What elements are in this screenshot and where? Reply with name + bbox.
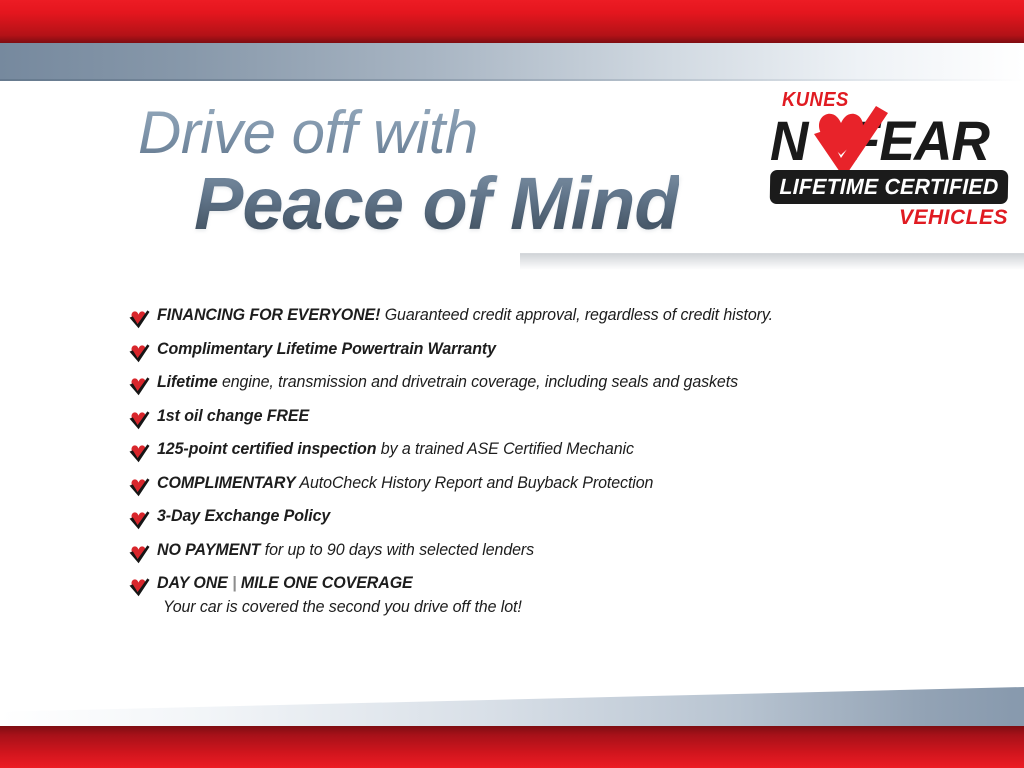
list-item-label: DAY ONE | MILE ONE COVERAGE: [157, 574, 522, 593]
list-item: NO PAYMENT for up to 90 days with select…: [128, 541, 988, 564]
heart-check-icon: [128, 309, 150, 329]
heart-check-icon: [128, 544, 150, 564]
list-item-bold: COMPLIMENTARY: [157, 474, 296, 492]
list-item-bold: 3-Day Exchange Policy: [157, 507, 330, 525]
list-item-bold: Complimentary Lifetime Powertrain Warran…: [157, 340, 496, 358]
list-item: 125-point certified inspection by a trai…: [128, 440, 988, 463]
heart-check-icon: [128, 376, 150, 396]
list-item-bold: 1st oil change FREE: [157, 407, 309, 425]
list-item: 1st oil change FREE: [128, 407, 988, 430]
page-title: Drive off with Peace of Mind: [138, 103, 679, 241]
logo-letter-n: N: [770, 109, 807, 172]
heart-check-icon: [128, 510, 150, 530]
list-item: 3-Day Exchange Policy: [128, 507, 988, 530]
list-item: DAY ONE | MILE ONE COVERAGE Your car is …: [128, 574, 988, 617]
list-item-bold: NO PAYMENT: [157, 541, 260, 559]
list-item: FINANCING FOR EVERYONE! Guaranteed credi…: [128, 306, 988, 329]
heart-check-icon: [128, 443, 150, 463]
heart-check-icon: [128, 410, 150, 430]
list-item-block: DAY ONE | MILE ONE COVERAGE Your car is …: [157, 574, 533, 617]
top-red-band: [0, 0, 1024, 43]
list-item-bold: 125-point certified inspection: [157, 440, 376, 458]
kunes-no-fear-logo: KUNES NOFEAR LIFETIME CERTIFIED VEHICLES: [764, 86, 1014, 231]
feature-list: FINANCING FOR EVERYONE! Guaranteed credi…: [128, 306, 988, 628]
bottom-gray-gradient-band: [0, 687, 1024, 727]
list-item-bold-b-text: MILE ONE COVERAGE: [241, 574, 413, 592]
list-item-rest: AutoCheck History Report and Buyback Pro…: [296, 474, 654, 492]
heart-check-icon: [128, 577, 150, 597]
list-item-label: NO PAYMENT for up to 90 days with select…: [157, 541, 534, 560]
headline-line-1: Drive off with: [138, 103, 679, 163]
header: Drive off with Peace of Mind KUNES NOFEA…: [0, 81, 1024, 281]
list-item-rest: engine, transmission and drivetrain cove…: [218, 373, 738, 391]
list-item: Complimentary Lifetime Powertrain Warran…: [128, 340, 988, 363]
logo-vehicles-text: VEHICLES: [899, 206, 1008, 230]
list-item-bold: Lifetime: [157, 373, 218, 391]
list-item-label: Lifetime engine, transmission and drivet…: [157, 373, 738, 392]
list-item-label: 3-Day Exchange Policy: [157, 507, 330, 526]
header-divider-shadow: [520, 253, 1024, 270]
list-item-rest: by a trained ASE Certified Mechanic: [376, 440, 633, 458]
list-item-label: 1st oil change FREE: [157, 407, 309, 426]
list-item-label: FINANCING FOR EVERYONE! Guaranteed credi…: [157, 306, 773, 325]
list-item-label: Complimentary Lifetime Powertrain Warran…: [157, 340, 496, 359]
top-gray-gradient-band: [0, 43, 1024, 81]
list-item: Lifetime engine, transmission and drivet…: [128, 373, 988, 396]
list-item-rest: for up to 90 days with selected lenders: [260, 541, 534, 559]
list-item-rest: Guaranteed credit approval, regardless o…: [380, 306, 773, 324]
list-item-bold-a: DAY ONE: [157, 574, 228, 592]
heart-check-icon: [806, 104, 892, 180]
list-item-sublabel: Your car is covered the second you drive…: [163, 598, 522, 617]
heart-check-icon: [128, 343, 150, 363]
bottom-red-band: [0, 726, 1024, 768]
list-item-bold: FINANCING FOR EVERYONE!: [157, 306, 380, 324]
heart-check-icon: [128, 477, 150, 497]
logo-bar-label: LIFETIME CERTIFIED: [773, 170, 1004, 204]
headline-line-2: Peace of Mind: [194, 167, 679, 241]
list-item-label: 125-point certified inspection by a trai…: [157, 440, 634, 459]
logo-lifetime-certified-bar: LIFETIME CERTIFIED: [770, 170, 1009, 204]
list-item-label: COMPLIMENTARY AutoCheck History Report a…: [157, 474, 653, 493]
list-item: COMPLIMENTARY AutoCheck History Report a…: [128, 474, 988, 497]
